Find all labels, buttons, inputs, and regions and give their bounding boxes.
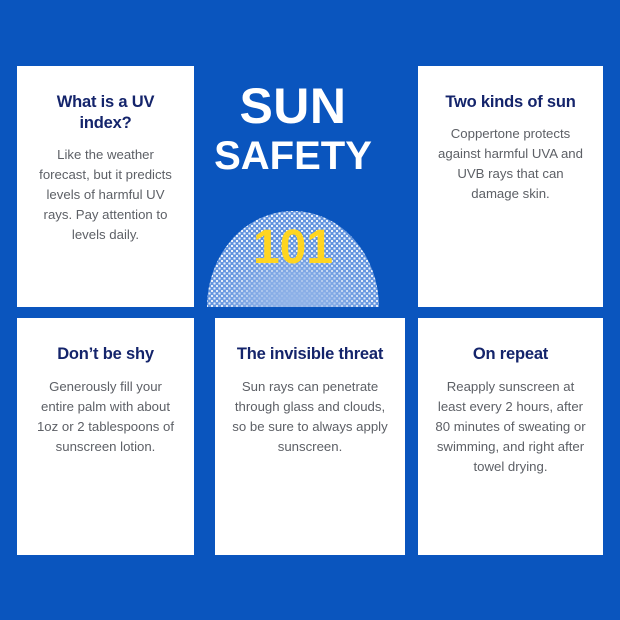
logo-line-safety: SAFETY — [198, 134, 388, 178]
card-body: Like the weather forecast, but it predic… — [31, 145, 180, 245]
logo-line-sun: SUN — [198, 82, 388, 130]
card-body: Sun rays can penetrate through glass and… — [229, 377, 391, 457]
card-uv-index: What is a UV index? Like the weather for… — [17, 66, 194, 307]
card-body: Reapply sunscreen at least every 2 hours… — [432, 377, 589, 477]
card-on-repeat: On repeat Reapply sunscreen at least eve… — [418, 318, 603, 555]
card-invisible-threat: The invisible threat Sun rays can penetr… — [215, 318, 405, 555]
logo-wordmark: SUN SAFETY — [198, 82, 388, 178]
card-body: Generously fill your entire palm with ab… — [31, 377, 180, 457]
card-body: Coppertone protects against harmful UVA … — [432, 124, 589, 204]
card-dont-be-shy: Don’t be shy Generously fill your entire… — [17, 318, 194, 555]
card-title: Two kinds of sun — [432, 92, 589, 113]
sun-safety-infographic: What is a UV index? Like the weather for… — [0, 0, 620, 620]
logo-number-101: 101 — [198, 224, 388, 272]
card-title: The invisible threat — [229, 344, 391, 365]
card-title: Don’t be shy — [31, 344, 180, 365]
card-title: On repeat — [432, 344, 589, 365]
sun-safety-logo: SUN SAFETY 101 — [198, 66, 388, 307]
card-two-kinds-of-sun: Two kinds of sun Coppertone protects aga… — [418, 66, 603, 307]
card-title: What is a UV index? — [31, 92, 180, 134]
